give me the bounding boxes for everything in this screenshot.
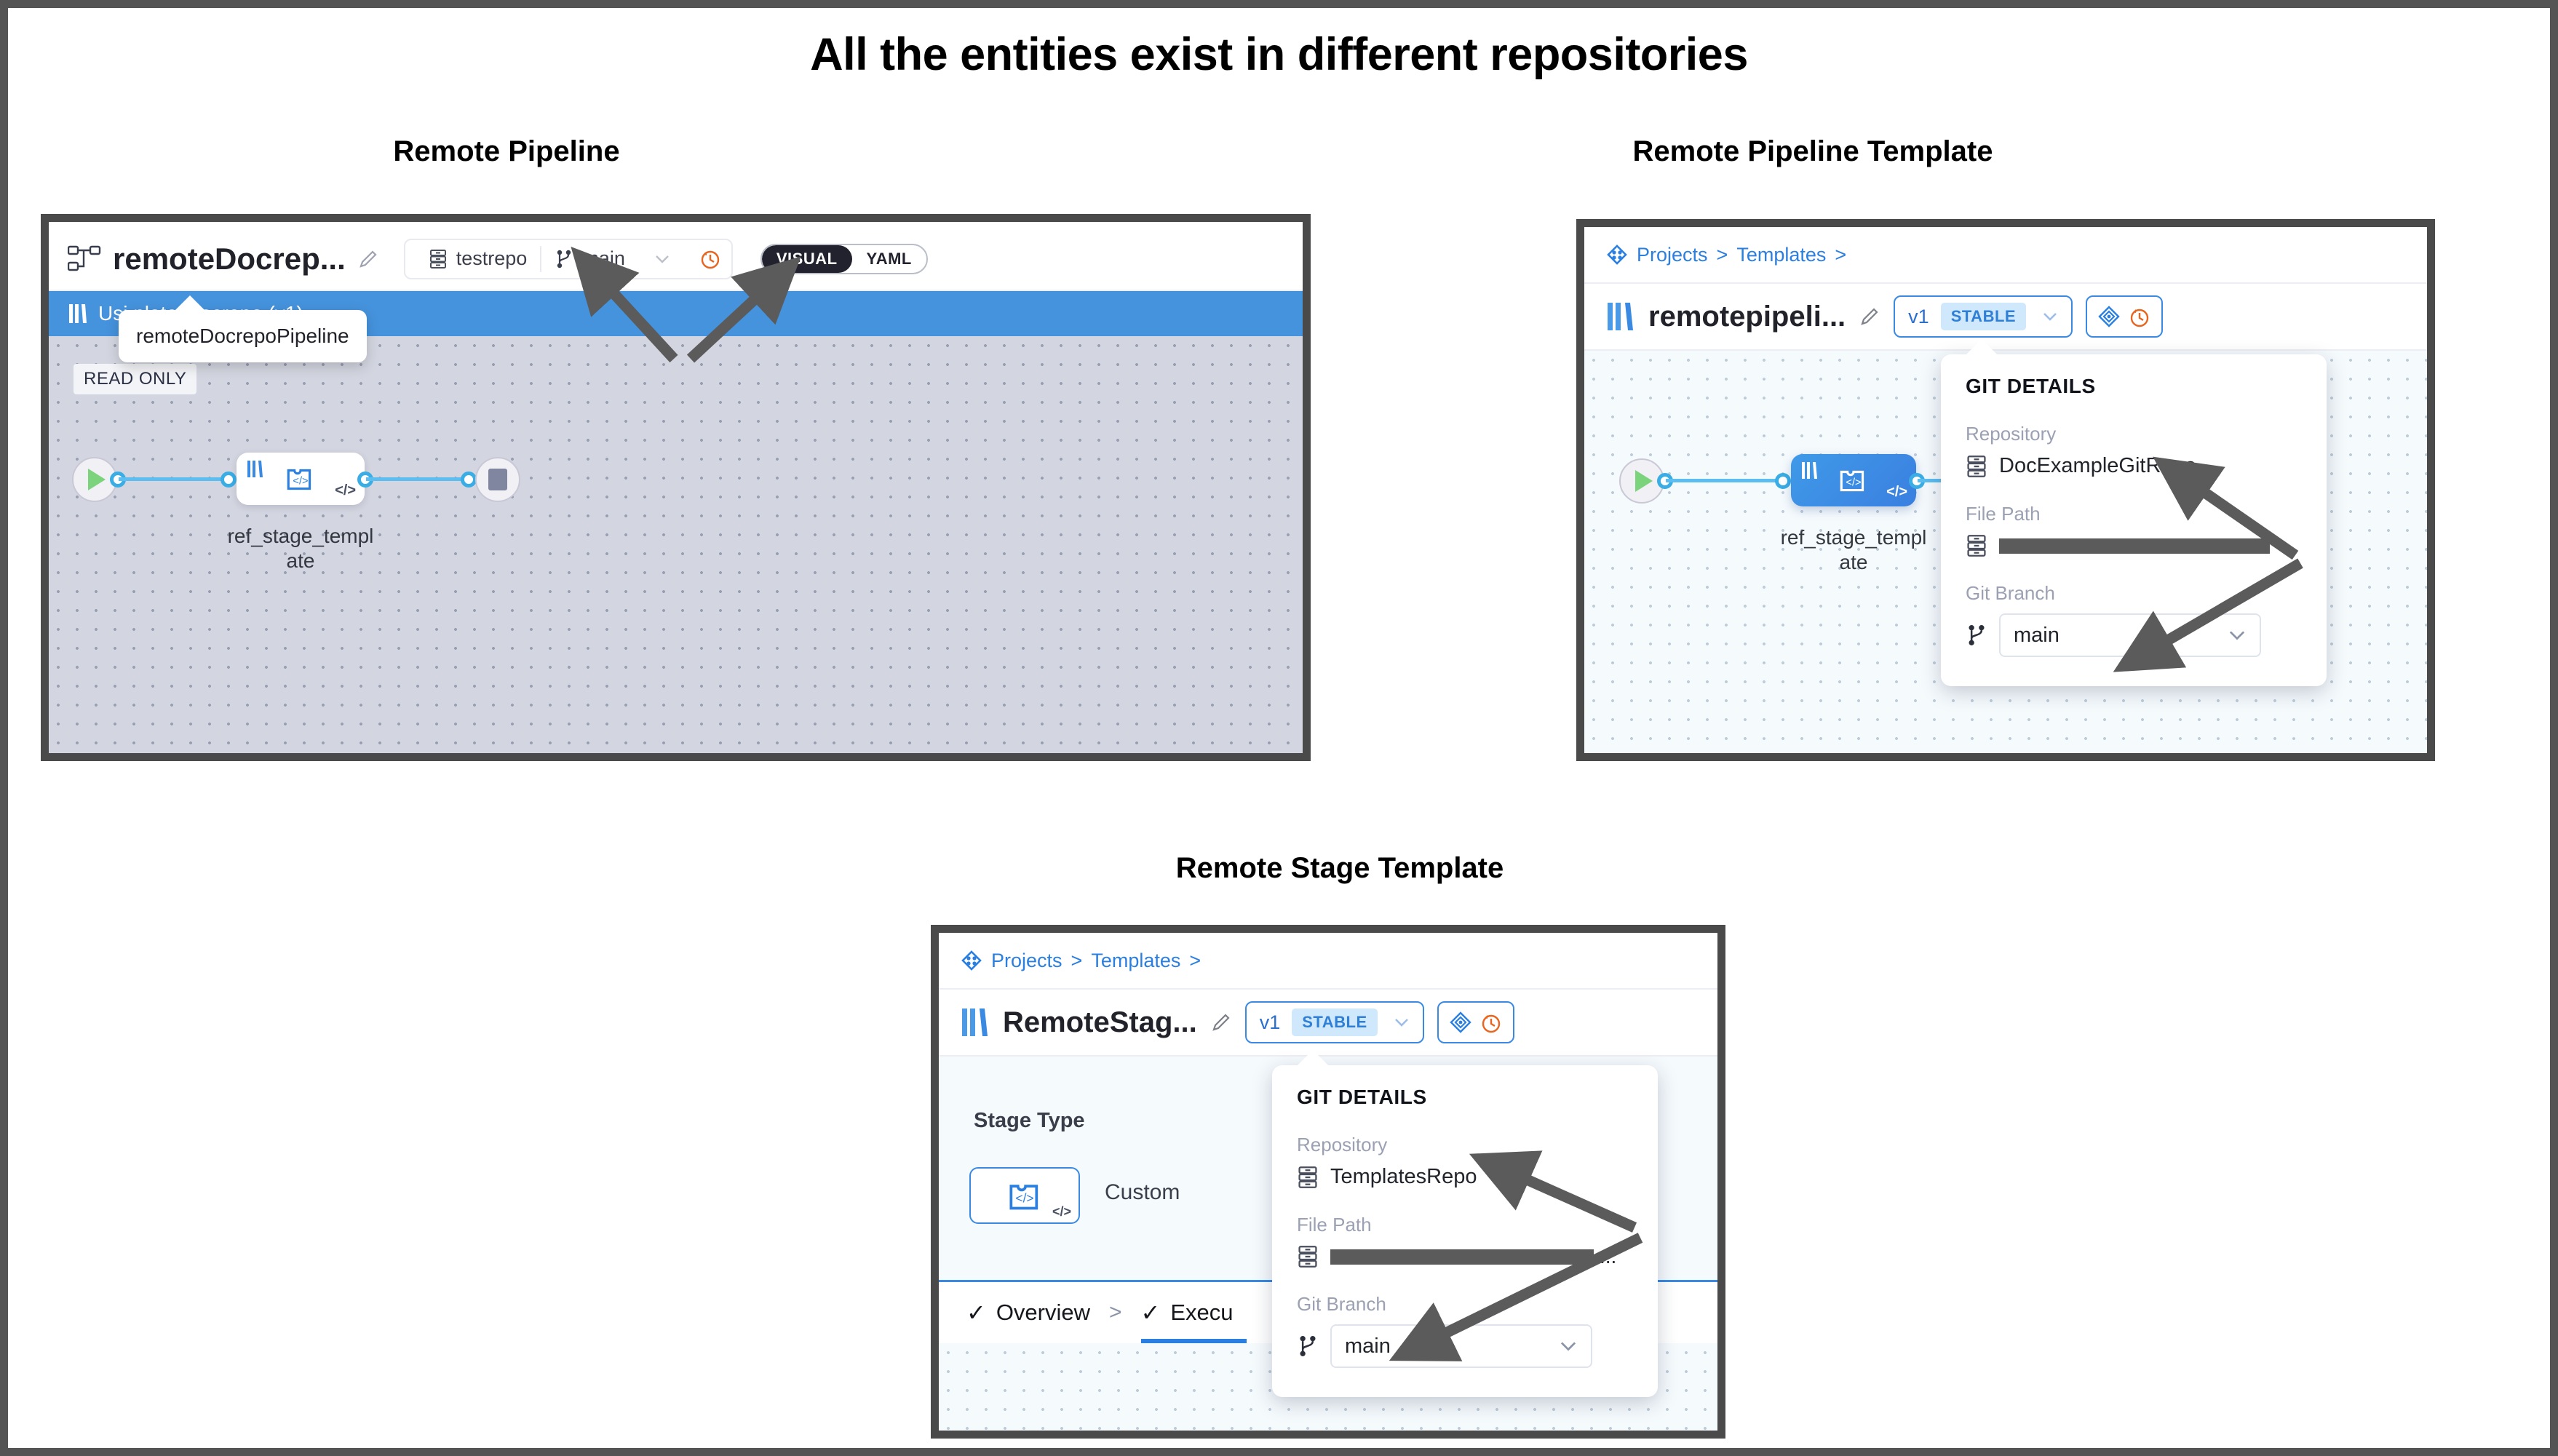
git-branch-icon [555, 249, 573, 269]
git-branch-icon [1297, 1334, 1319, 1358]
template-bars-icon [961, 1006, 990, 1038]
file-path-label: File Path [1297, 1214, 1633, 1236]
caption-remote-stage-template: Remote Stage Template [794, 852, 1886, 885]
custom-stage-icon: </> [1004, 1176, 1045, 1215]
repository-icon [429, 249, 448, 269]
port-stage-in [1775, 473, 1791, 489]
version-badge: STABLE [1941, 303, 2026, 330]
stage-node-ref-stage-template[interactable]: </> </> [237, 453, 365, 505]
version-number: v1 [1908, 306, 1929, 328]
version-number: v1 [1260, 1011, 1281, 1034]
template-bars-icon [247, 460, 264, 479]
breadcrumb-separator: > [1071, 950, 1083, 972]
file-path-label: File Path [1966, 503, 2302, 525]
caption-remote-pipeline: Remote Pipeline [110, 135, 903, 168]
repository-label: Repository [1966, 423, 2302, 445]
stop-icon [488, 469, 507, 490]
svg-text:</>: </> [293, 475, 308, 487]
git-branch-value: main [2014, 624, 2059, 648]
check-icon: ✓ [1141, 1299, 1161, 1326]
git-branch-select[interactable]: main [1999, 613, 2261, 657]
svg-text:</>: </> [1846, 477, 1861, 488]
breadcrumb-item-projects[interactable]: Projects [991, 950, 1062, 972]
edge-start-to-stage [1666, 479, 1782, 482]
branch-value: main [582, 247, 625, 270]
tab-overview-label: Overview [996, 1300, 1090, 1326]
breadcrumb-separator-2: > [1835, 244, 1846, 266]
code-tag-icon: </> [1886, 484, 1907, 501]
custom-stage-icon: </> [284, 463, 317, 495]
pipeline-name-tooltip: remoteDocrepoPipeline [119, 310, 367, 362]
edge-stage-to-end [366, 477, 468, 481]
repository-value: TemplatesRepo [1330, 1165, 1477, 1189]
git-details-button[interactable] [2086, 295, 2163, 338]
pipeline-diagram: </> </> ref_stage_templ ate [49, 336, 1303, 753]
projects-icon [1606, 244, 1628, 266]
repository-icon [1297, 1166, 1319, 1189]
branch-selector[interactable]: main [541, 246, 683, 272]
git-branch-row: main [1297, 1324, 1633, 1368]
tab-separator: > [1109, 1300, 1122, 1325]
breadcrumb-item-templates[interactable]: Templates [1091, 950, 1180, 972]
port-stage-in [221, 472, 237, 488]
breadcrumb: Projects > Templates > [1584, 227, 2427, 284]
git-branch-label: Git Branch [1966, 582, 2302, 605]
play-icon [1635, 470, 1653, 492]
template-bars-icon [1801, 461, 1819, 480]
chevron-down-icon[interactable] [2042, 311, 2058, 322]
repository-value: DocExampleGitRepo [1999, 454, 2196, 478]
tab-execution-label: Execu [1170, 1300, 1233, 1326]
git-diamond-icon [2097, 305, 2121, 328]
git-branch-row: main [1966, 613, 2302, 657]
edge-start-to-stage [119, 477, 228, 481]
view-mode-toggle[interactable]: VISUAL YAML [760, 244, 928, 274]
recent-activity-icon[interactable] [699, 248, 721, 270]
projects-icon [961, 950, 982, 971]
breadcrumb-item-templates[interactable]: Templates [1736, 244, 1826, 266]
tab-overview[interactable]: ✓ Overview [966, 1282, 1090, 1343]
template-name: RemoteStag... [1003, 1006, 1197, 1039]
stage-node-label: ref_stage_templ ate [215, 524, 386, 573]
chevron-down-icon[interactable] [654, 254, 670, 264]
end-node[interactable] [475, 457, 520, 502]
custom-stage-icon: </> [1837, 464, 1870, 496]
chevron-down-icon[interactable] [2228, 629, 2247, 641]
pencil-icon[interactable] [357, 248, 379, 270]
git-details-popover: GIT DETAILS Repository DocExampleGitRepo… [1941, 354, 2327, 686]
check-icon: ✓ [966, 1299, 986, 1326]
git-branch-label: Git Branch [1297, 1293, 1633, 1316]
caption-remote-pipeline-template: Remote Pipeline Template [1391, 135, 2235, 168]
pipeline-name: remoteDocrep... [113, 242, 346, 277]
git-details-popover: GIT DETAILS Repository TemplatesRepo Fil… [1272, 1065, 1658, 1397]
pipeline-header: remoteDocrep... testrepo [49, 226, 1303, 291]
git-diamond-icon [1449, 1011, 1472, 1034]
file-path-row: ... [1297, 1245, 1633, 1268]
slide-frame: All the entities exist in different repo… [0, 0, 2558, 1456]
breadcrumb-separator: > [1717, 244, 1728, 266]
recent-activity-icon[interactable] [2128, 305, 2151, 328]
screenshot-remote-stage-template: Projects > Templates > RemoteStag... v1 … [931, 925, 1725, 1439]
git-details-button[interactable] [1437, 1001, 1514, 1043]
repository-row: DocExampleGitRepo [1966, 454, 2302, 478]
screenshot-remote-pipeline-template: Projects > Templates > remotepipeli... v… [1576, 219, 2435, 761]
port-end-in [461, 472, 477, 488]
git-branch-value: main [1345, 1334, 1391, 1358]
repository-icon [1966, 534, 1987, 557]
pipeline-icon [68, 244, 101, 274]
repository-value: testrepo [456, 247, 528, 270]
tab-visual[interactable]: VISUAL [762, 245, 852, 273]
stage-type-custom-button[interactable]: </> </> [969, 1167, 1080, 1224]
file-path-ellipsis: ... [1600, 1245, 1616, 1268]
template-bars-icon [68, 303, 88, 325]
repository-row: TemplatesRepo [1297, 1165, 1633, 1189]
tooltip-text: remoteDocrepoPipeline [136, 325, 349, 347]
version-selector[interactable]: v1 STABLE [1245, 1001, 1424, 1043]
code-tag-icon: </> [1052, 1204, 1071, 1220]
play-icon [88, 469, 106, 490]
pipeline-canvas[interactable]: READ ONLY </> [49, 336, 1303, 753]
code-tag-icon: </> [335, 482, 356, 499]
chevron-down-icon[interactable] [1559, 1340, 1578, 1352]
stage-type-label: Stage Type [974, 1109, 1085, 1133]
file-path-redacted [1999, 538, 2270, 554]
chevron-down-icon[interactable] [1394, 1017, 1410, 1027]
page-title: All the entities exist in different repo… [8, 28, 2550, 81]
git-branch-select[interactable]: main [1330, 1324, 1592, 1368]
repository-icon [1966, 455, 1987, 478]
breadcrumb-separator-2: > [1189, 950, 1201, 972]
repo-branch-group: testrepo main [404, 239, 733, 279]
template-bars-icon [1606, 301, 1635, 333]
git-branch-icon [1966, 624, 1987, 647]
git-details-title: GIT DETAILS [1297, 1086, 1633, 1109]
breadcrumb-item-projects[interactable]: Projects [1637, 244, 1708, 266]
repository-label: Repository [1297, 1134, 1633, 1156]
template-header: RemoteStag... v1 STABLE [939, 990, 1717, 1057]
stage-node-ref-stage-template[interactable]: </> </> [1791, 454, 1916, 506]
version-selector[interactable]: v1 STABLE [1894, 295, 2073, 338]
version-badge: STABLE [1292, 1009, 1377, 1036]
recent-activity-icon[interactable] [1479, 1011, 1503, 1034]
stage-node-label: ref_stage_templ ate [1766, 525, 1941, 575]
breadcrumb: Projects > Templates > [939, 933, 1717, 990]
tab-yaml[interactable]: YAML [852, 245, 926, 273]
screenshot-remote-pipeline: remoteDocrep... testrepo [41, 214, 1311, 761]
template-name: remotepipeli... [1648, 301, 1846, 333]
file-path-redacted [1330, 1249, 1594, 1265]
tab-execution[interactable]: ✓ Execu [1141, 1282, 1234, 1343]
repository-selector[interactable]: testrepo [416, 246, 541, 272]
file-path-row [1966, 534, 2302, 557]
pencil-icon[interactable] [1859, 306, 1880, 327]
template-header: remotepipeli... v1 STABLE [1584, 284, 2427, 351]
repository-icon [1297, 1245, 1319, 1268]
git-details-title: GIT DETAILS [1966, 375, 2302, 398]
svg-text:</>: </> [1015, 1190, 1033, 1205]
pencil-icon[interactable] [1210, 1011, 1232, 1033]
stage-type-value: Custom [1105, 1180, 1180, 1205]
